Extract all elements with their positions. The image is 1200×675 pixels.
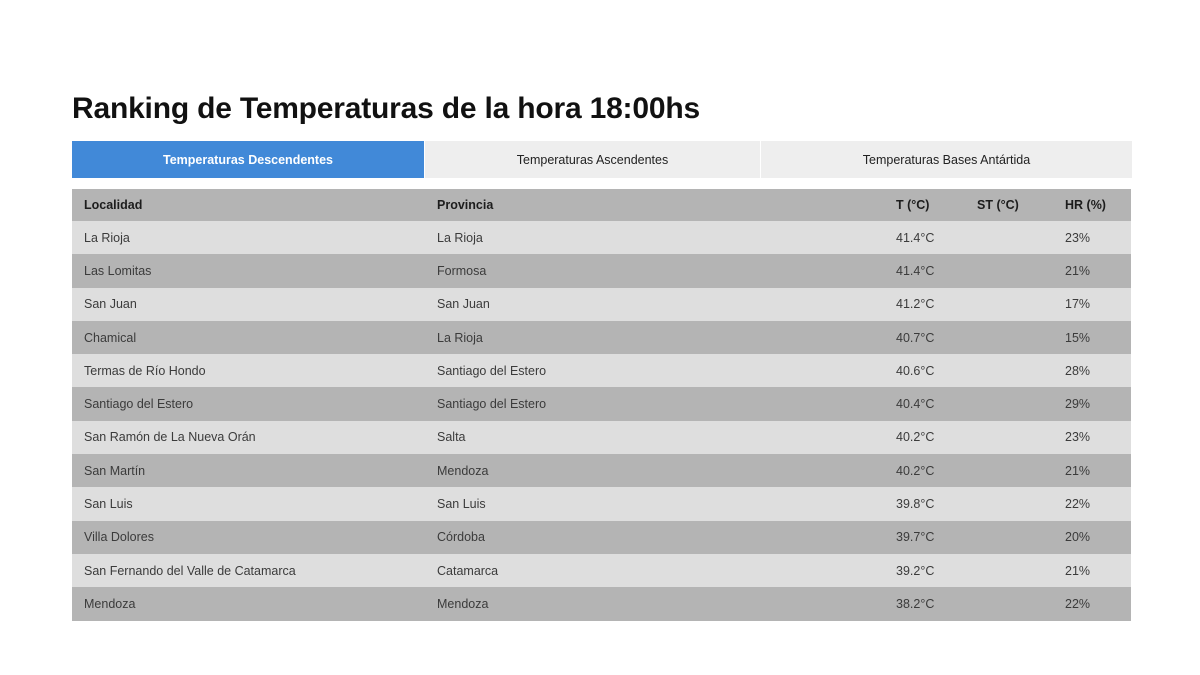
cell-t: 41.4°C xyxy=(884,254,965,287)
cell-t: 39.8°C xyxy=(884,487,965,520)
tab-temperaturas-ascendentes[interactable]: Temperaturas Ascendentes xyxy=(425,141,760,178)
cell-st xyxy=(965,288,1053,321)
tab-label: Temperaturas Bases Antártida xyxy=(863,153,1030,167)
cell-t: 40.2°C xyxy=(884,454,965,487)
cell-localidad: Chamical xyxy=(72,321,425,354)
cell-localidad: Mendoza xyxy=(72,587,425,620)
cell-hr: 15% xyxy=(1053,321,1131,354)
cell-localidad: Las Lomitas xyxy=(72,254,425,287)
cell-st xyxy=(965,587,1053,620)
ranking-page: Ranking de Temperaturas de la hora 18:00… xyxy=(0,0,1200,675)
cell-localidad: San Luis xyxy=(72,487,425,520)
column-header-temperatura[interactable]: T (°C) xyxy=(884,189,965,221)
cell-t: 38.2°C xyxy=(884,587,965,620)
cell-hr: 28% xyxy=(1053,354,1131,387)
cell-hr: 23% xyxy=(1053,421,1131,454)
cell-provincia: Formosa xyxy=(425,254,884,287)
cell-hr: 20% xyxy=(1053,521,1131,554)
cell-t: 40.7°C xyxy=(884,321,965,354)
table-row[interactable]: San MartínMendoza40.2°C21% xyxy=(72,454,1131,487)
cell-localidad: Termas de Río Hondo xyxy=(72,354,425,387)
cell-localidad: Villa Dolores xyxy=(72,521,425,554)
column-header-localidad[interactable]: Localidad xyxy=(72,189,425,221)
table-row[interactable]: San JuanSan Juan41.2°C17% xyxy=(72,288,1131,321)
cell-localidad: San Ramón de La Nueva Orán xyxy=(72,421,425,454)
cell-provincia: Córdoba xyxy=(425,521,884,554)
cell-localidad: San Juan xyxy=(72,288,425,321)
table-row[interactable]: Termas de Río HondoSantiago del Estero40… xyxy=(72,354,1131,387)
cell-localidad: San Fernando del Valle de Catamarca xyxy=(72,554,425,587)
tab-label: Temperaturas Ascendentes xyxy=(517,153,668,167)
table-header: Localidad Provincia T (°C) ST (°C) HR (%… xyxy=(72,189,1131,221)
table-header-row: Localidad Provincia T (°C) ST (°C) HR (%… xyxy=(72,189,1131,221)
cell-st xyxy=(965,521,1053,554)
cell-t: 41.2°C xyxy=(884,288,965,321)
cell-t: 40.4°C xyxy=(884,387,965,420)
cell-st xyxy=(965,487,1053,520)
cell-hr: 23% xyxy=(1053,221,1131,254)
cell-st xyxy=(965,554,1053,587)
table-row[interactable]: San LuisSan Luis39.8°C22% xyxy=(72,487,1131,520)
cell-t: 40.6°C xyxy=(884,354,965,387)
cell-st xyxy=(965,454,1053,487)
cell-hr: 29% xyxy=(1053,387,1131,420)
table-row[interactable]: San Fernando del Valle de CatamarcaCatam… xyxy=(72,554,1131,587)
cell-provincia: La Rioja xyxy=(425,321,884,354)
cell-provincia: Santiago del Estero xyxy=(425,387,884,420)
cell-hr: 21% xyxy=(1053,554,1131,587)
cell-st xyxy=(965,221,1053,254)
cell-hr: 17% xyxy=(1053,288,1131,321)
cell-provincia: San Juan xyxy=(425,288,884,321)
cell-provincia: Catamarca xyxy=(425,554,884,587)
cell-hr: 22% xyxy=(1053,587,1131,620)
table-row[interactable]: Villa DoloresCórdoba39.7°C20% xyxy=(72,521,1131,554)
table-body: La RiojaLa Rioja41.4°C23%Las LomitasForm… xyxy=(72,221,1131,621)
tab-bar: Temperaturas Descendentes Temperaturas A… xyxy=(72,141,1131,178)
tab-label: Temperaturas Descendentes xyxy=(163,153,333,167)
cell-provincia: La Rioja xyxy=(425,221,884,254)
cell-hr: 21% xyxy=(1053,254,1131,287)
table-row[interactable]: MendozaMendoza38.2°C22% xyxy=(72,587,1131,620)
column-header-sensacion-termica[interactable]: ST (°C) xyxy=(965,189,1053,221)
cell-t: 39.7°C xyxy=(884,521,965,554)
table-row[interactable]: Santiago del EsteroSantiago del Estero40… xyxy=(72,387,1131,420)
table-row[interactable]: La RiojaLa Rioja41.4°C23% xyxy=(72,221,1131,254)
cell-st xyxy=(965,421,1053,454)
column-header-provincia[interactable]: Provincia xyxy=(425,189,884,221)
cell-localidad: San Martín xyxy=(72,454,425,487)
cell-st xyxy=(965,354,1053,387)
cell-t: 41.4°C xyxy=(884,221,965,254)
cell-provincia: San Luis xyxy=(425,487,884,520)
cell-t: 39.2°C xyxy=(884,554,965,587)
table-row[interactable]: San Ramón de La Nueva OránSalta40.2°C23% xyxy=(72,421,1131,454)
column-header-humedad[interactable]: HR (%) xyxy=(1053,189,1131,221)
tab-temperaturas-descendentes[interactable]: Temperaturas Descendentes xyxy=(72,141,424,178)
cell-localidad: La Rioja xyxy=(72,221,425,254)
page-title: Ranking de Temperaturas de la hora 18:00… xyxy=(72,92,700,126)
cell-provincia: Mendoza xyxy=(425,454,884,487)
ranking-table: Localidad Provincia T (°C) ST (°C) HR (%… xyxy=(72,189,1131,621)
cell-hr: 21% xyxy=(1053,454,1131,487)
table-row[interactable]: Las LomitasFormosa41.4°C21% xyxy=(72,254,1131,287)
cell-st xyxy=(965,321,1053,354)
cell-t: 40.2°C xyxy=(884,421,965,454)
cell-localidad: Santiago del Estero xyxy=(72,387,425,420)
tab-temperaturas-bases-antartida[interactable]: Temperaturas Bases Antártida xyxy=(761,141,1132,178)
cell-hr: 22% xyxy=(1053,487,1131,520)
cell-provincia: Salta xyxy=(425,421,884,454)
table-row[interactable]: ChamicalLa Rioja40.7°C15% xyxy=(72,321,1131,354)
cell-st xyxy=(965,387,1053,420)
cell-st xyxy=(965,254,1053,287)
cell-provincia: Santiago del Estero xyxy=(425,354,884,387)
cell-provincia: Mendoza xyxy=(425,587,884,620)
ranking-table-container: Localidad Provincia T (°C) ST (°C) HR (%… xyxy=(72,189,1131,621)
